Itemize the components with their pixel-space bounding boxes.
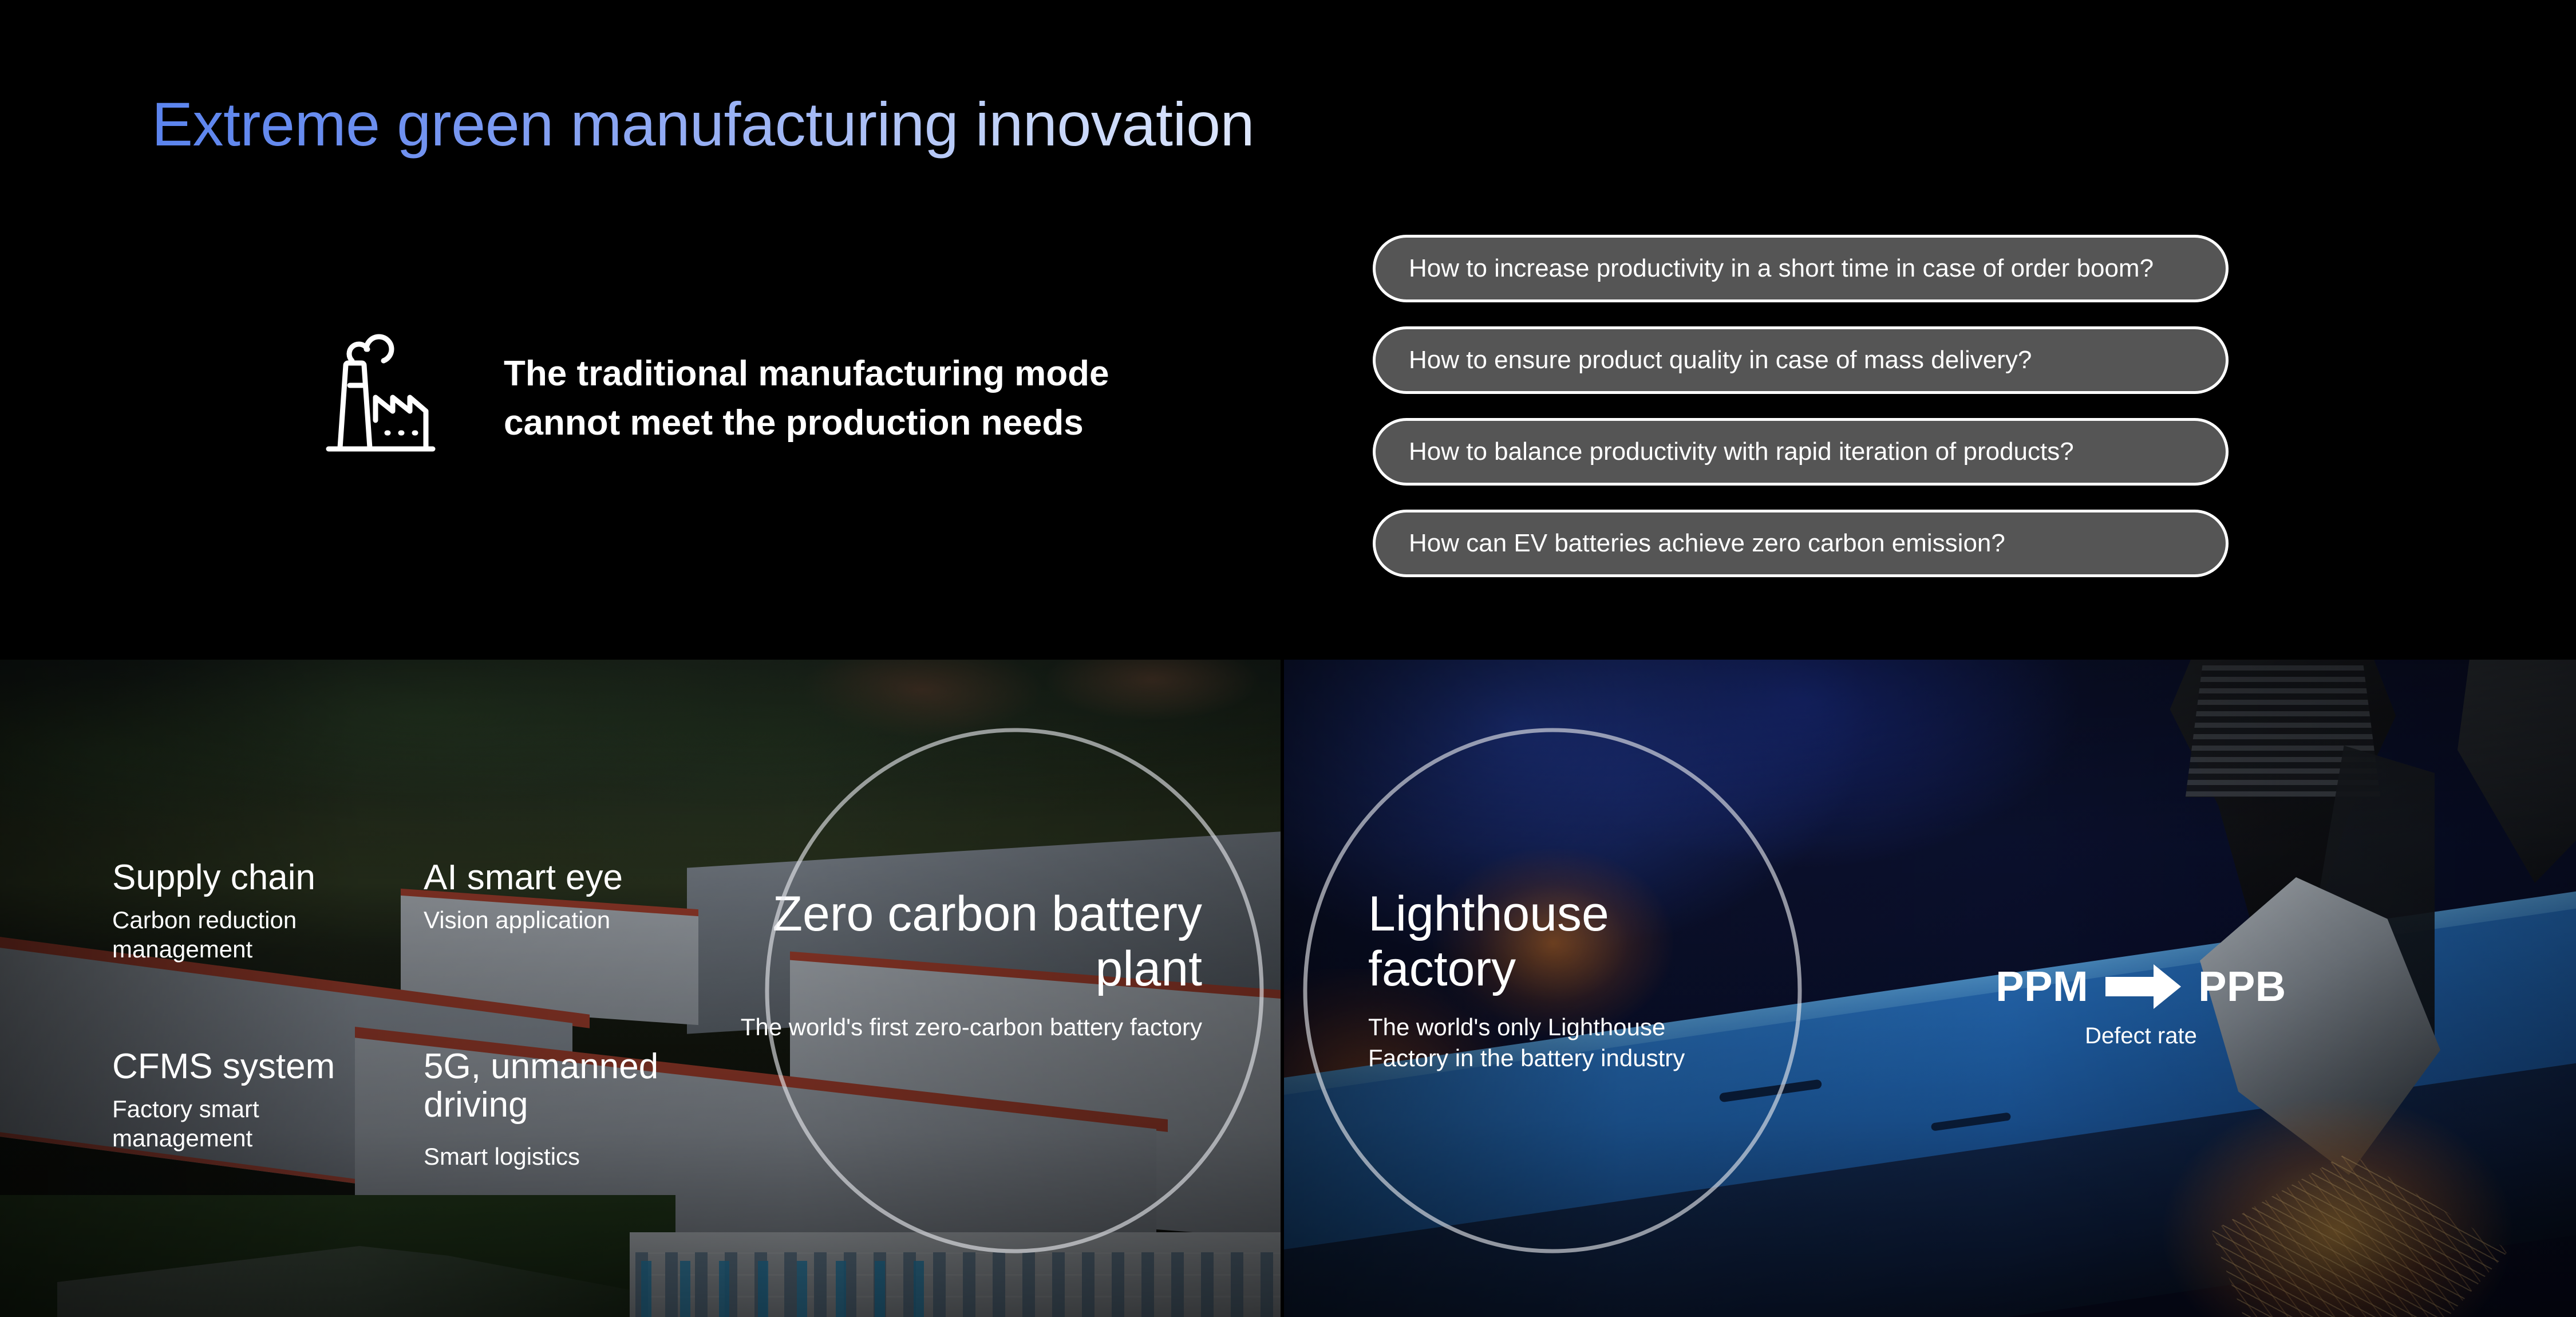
top-section: Extreme green manufacturing innovation bbox=[0, 0, 2576, 660]
photo-overlay-text bbox=[0, 660, 2576, 1317]
question-pill-label: How can EV batteries achieve zero carbon… bbox=[1376, 529, 2005, 558]
question-list: How to increase productivity in a short … bbox=[1373, 235, 2231, 601]
question-pill-1[interactable]: How to increase productivity in a short … bbox=[1373, 235, 2229, 302]
factory-icon bbox=[302, 305, 437, 456]
question-pill-label: How to increase productivity in a short … bbox=[1376, 254, 2154, 283]
question-pill-label: How to balance productivity with rapid i… bbox=[1376, 437, 2074, 466]
problem-headline: The traditional manufacturing mode canno… bbox=[504, 349, 1305, 447]
question-pill-2[interactable]: How to ensure product quality in case of… bbox=[1373, 326, 2229, 394]
slide-root: Extreme green manufacturing innovation bbox=[0, 0, 2576, 1317]
problem-headline-line-2: cannot meet the production needs bbox=[504, 399, 1305, 448]
problem-headline-line-1: The traditional manufacturing mode bbox=[504, 349, 1305, 399]
page-title: Extreme green manufacturing innovation bbox=[152, 90, 1254, 159]
question-pill-4[interactable]: How can EV batteries achieve zero carbon… bbox=[1373, 510, 2229, 577]
question-pill-label: How to ensure product quality in case of… bbox=[1376, 346, 2032, 374]
question-pill-3[interactable]: How to balance productivity with rapid i… bbox=[1373, 418, 2229, 486]
photo-band bbox=[0, 660, 2576, 1317]
